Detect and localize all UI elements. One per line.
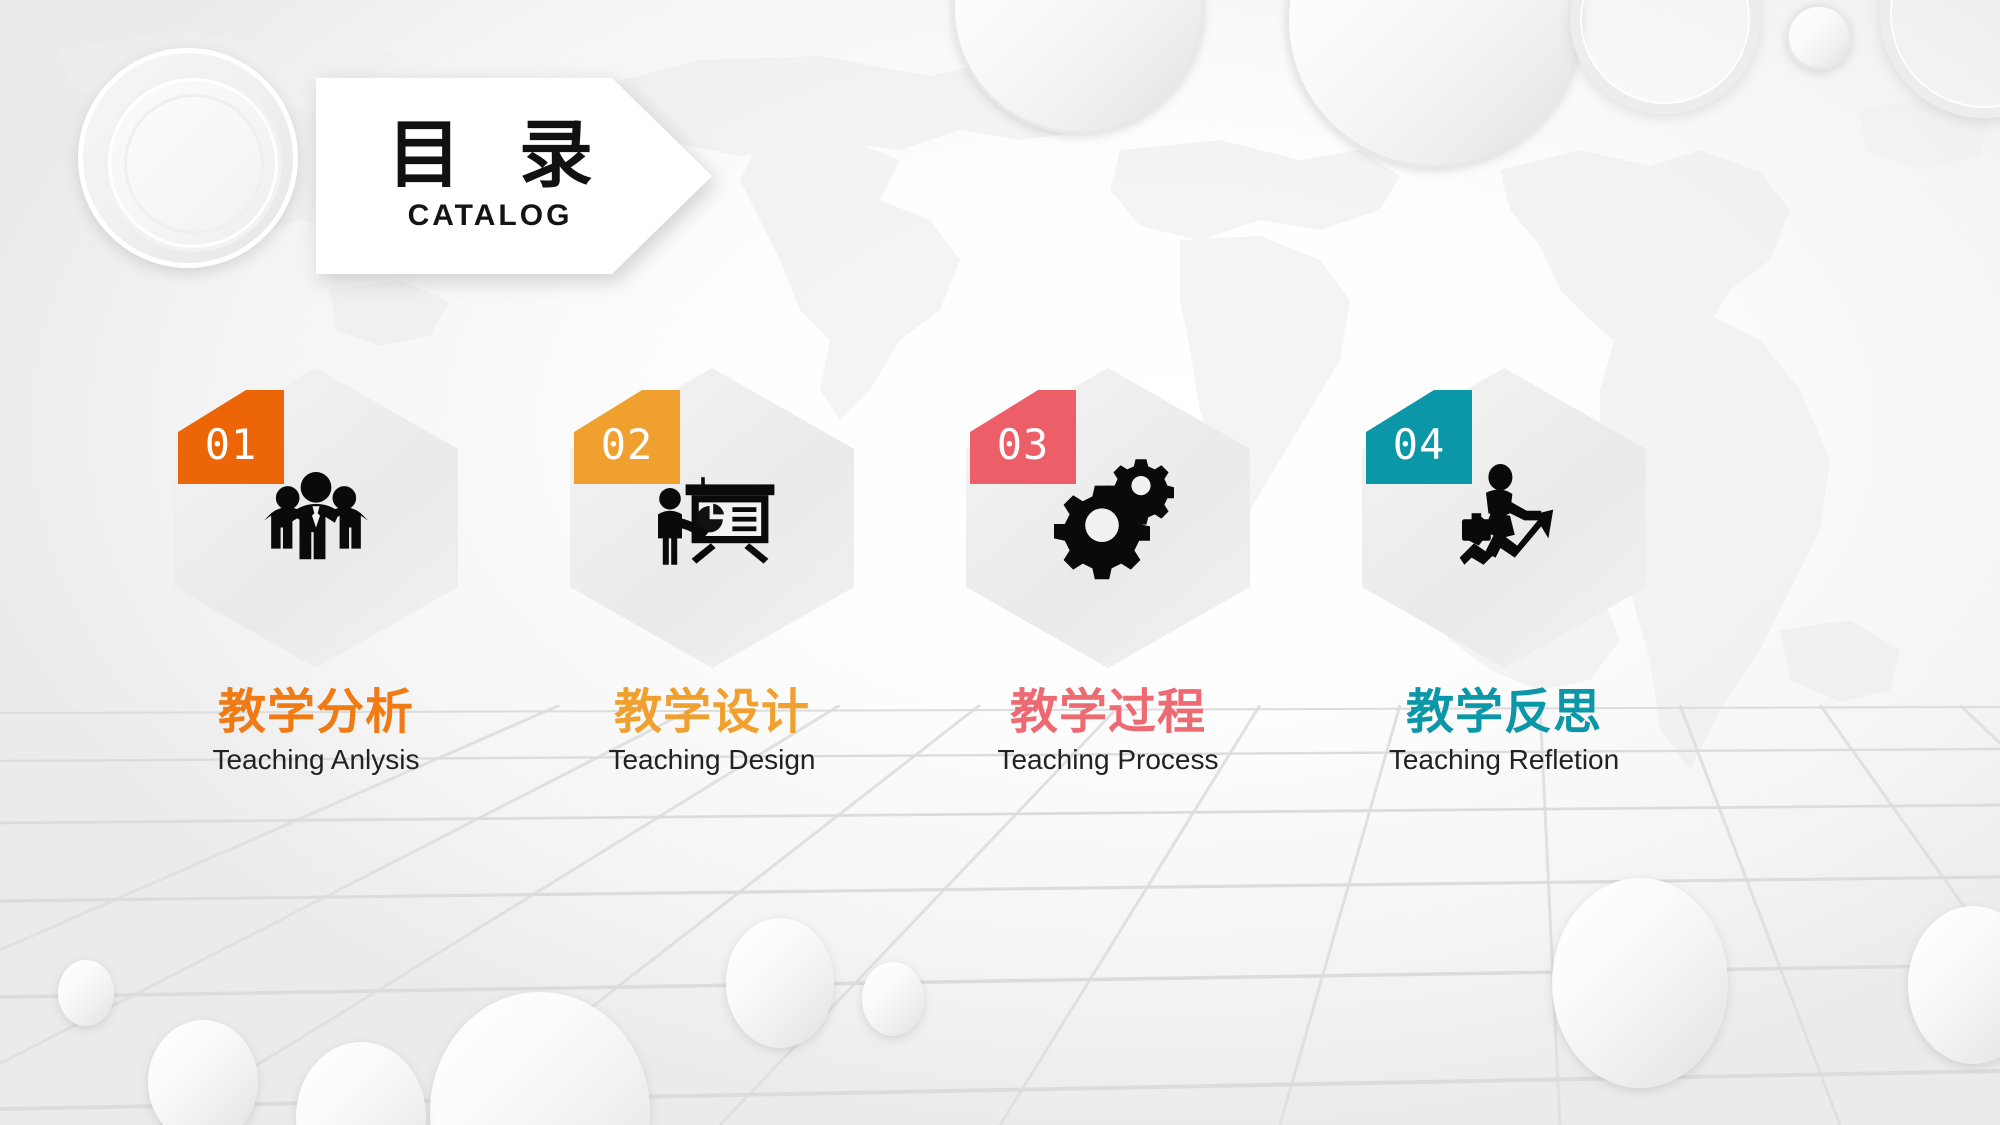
catalog-slide: 目 录 CATALOG [0,0,2000,1125]
decorative-bubble [1570,0,1760,114]
item-title-en: Teaching Design [562,744,862,776]
item-title-cn: 教学反思 [1354,686,1654,740]
decorative-bubble [862,962,924,1036]
badge-label: 01 [205,424,258,478]
hexagon-tile[interactable]: 02 [570,368,854,668]
decorative-ring-cluster [78,48,308,278]
page-title-en: CATALOG [408,199,573,233]
catalog-caption: 教学过程 Teaching Process [958,686,1258,776]
item-title-cn: 教学设计 [562,686,862,740]
decorative-bubble [726,918,834,1048]
badge-label: 04 [1393,424,1446,478]
decorative-bubble [430,992,650,1125]
decorative-bubble [952,0,1204,134]
item-title-en: Teaching Anlysis [166,744,466,776]
decorative-bubble [1552,878,1728,1088]
badge-label: 03 [997,424,1050,478]
decorative-bubble [296,1042,426,1125]
catalog-caption: 教学分析 Teaching Anlysis [166,686,466,776]
catalog-items: 01 教学分析 Teaching Anlysis [0,368,2000,848]
catalog-item-03[interactable]: 03 教学过程 Teaching Process [958,368,1258,776]
catalog-item-02[interactable]: 02 教学设计 Teaching Design [562,368,862,776]
page-title-cn: 目 录 [387,119,609,192]
decorative-bubble [1786,4,1852,70]
item-title-cn: 教学分析 [166,686,466,740]
hexagon-tile[interactable]: 01 [174,368,458,668]
hexagon-tile[interactable]: 03 [966,368,1250,668]
catalog-item-01[interactable]: 01 教学分析 Teaching Anlysis [166,368,466,776]
hexagon-tile[interactable]: 04 [1362,368,1646,668]
decorative-bubble [148,1020,258,1125]
badge-label: 02 [601,424,654,478]
catalog-caption: 教学反思 Teaching Refletion [1354,686,1654,776]
decorative-bubble [1286,0,1582,168]
decorative-bubble [1908,906,2000,1064]
item-title-en: Teaching Process [958,744,1258,776]
item-title-en: Teaching Refletion [1354,744,1654,776]
catalog-banner: 目 录 CATALOG [316,78,712,274]
catalog-item-04[interactable]: 04 教学反思 Teaching Refletion [1354,368,1654,776]
decorative-bubble [1880,0,2000,118]
decorative-bubble [58,960,114,1026]
item-title-cn: 教学过程 [958,686,1258,740]
catalog-caption: 教学设计 Teaching Design [562,686,862,776]
